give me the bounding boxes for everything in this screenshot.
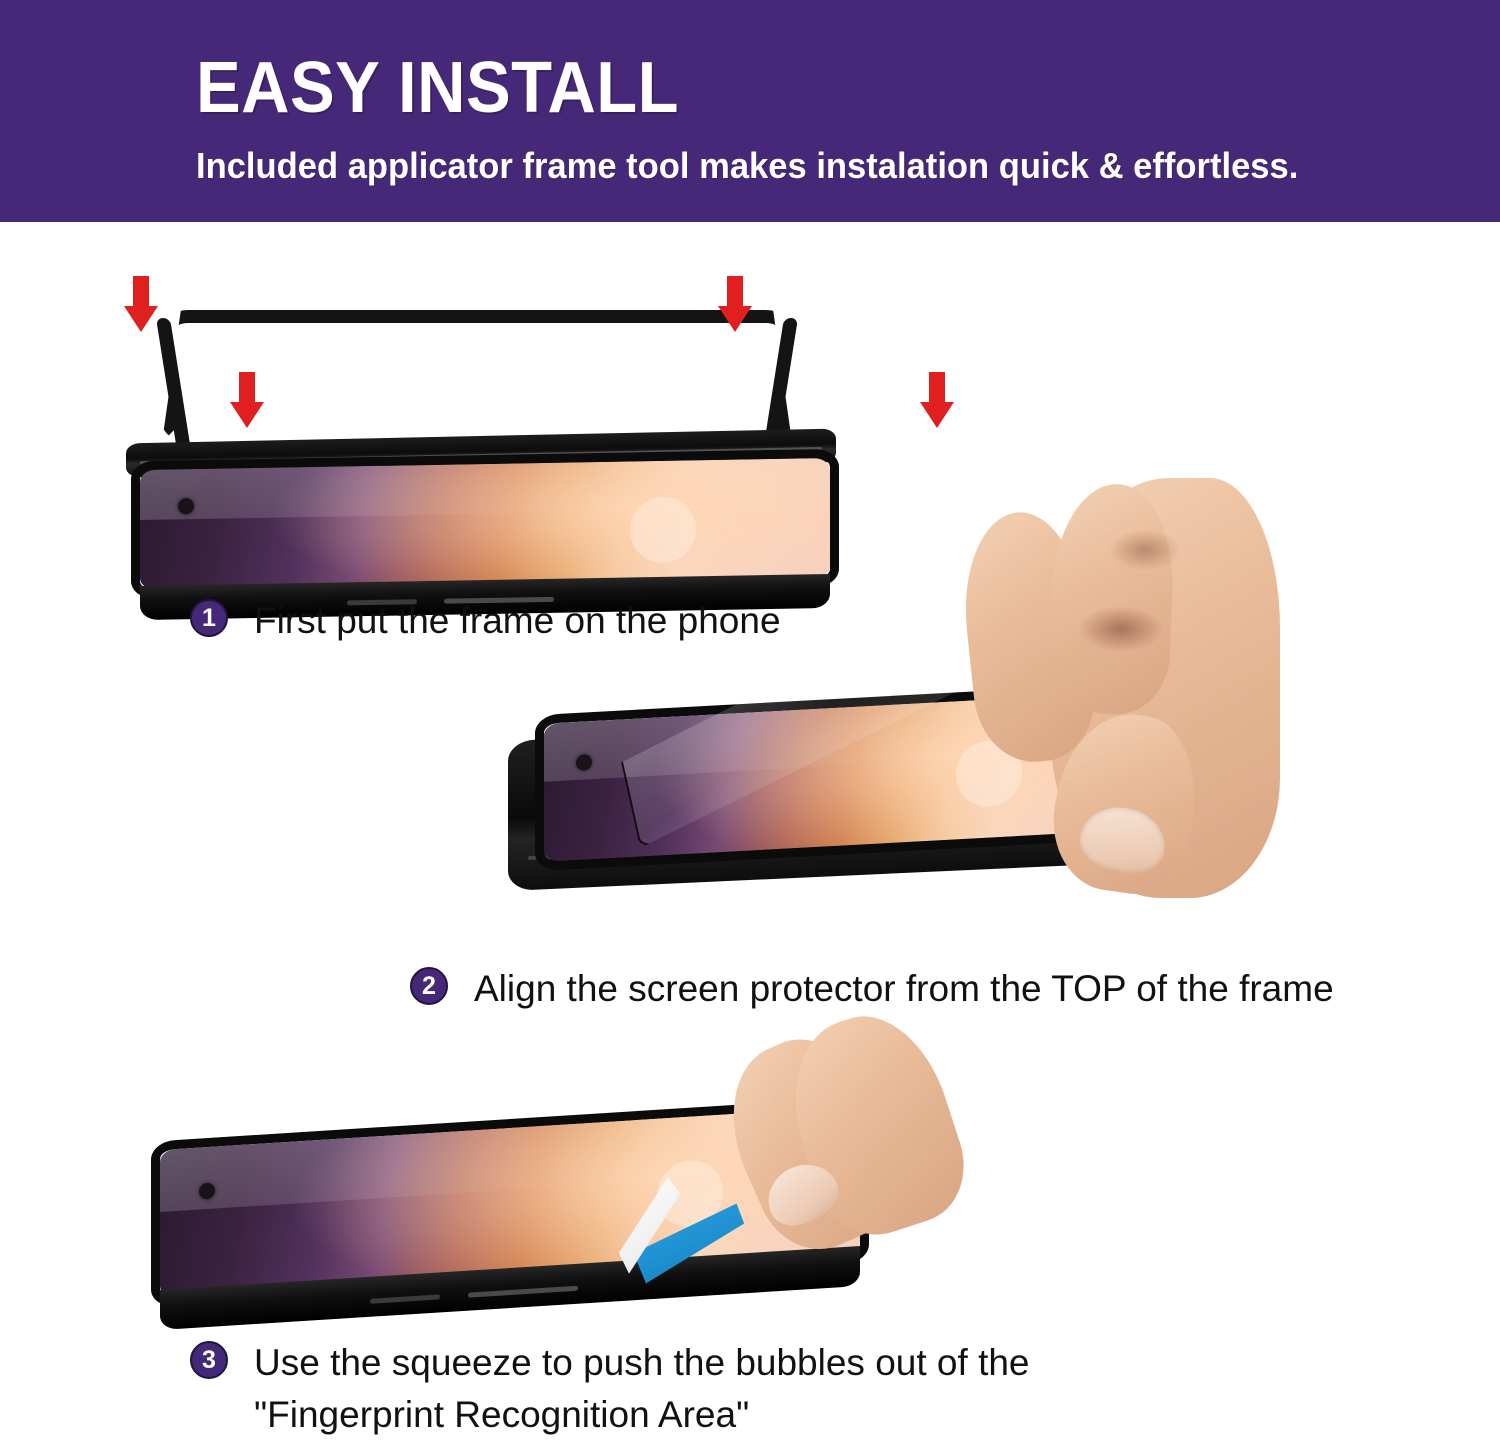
step-label: Align the screen protector from the TOP … bbox=[474, 963, 1334, 1015]
page-subtitle: Included applicator frame tool makes ins… bbox=[196, 144, 1298, 188]
step-number-badge: 1 bbox=[190, 599, 228, 637]
page-title: EASY INSTALL bbox=[196, 52, 679, 124]
header-banner: EASY INSTALL Included applicator frame t… bbox=[0, 0, 1500, 222]
finger-crease bbox=[1110, 530, 1180, 570]
front-camera-icon bbox=[178, 498, 194, 514]
step-label: Use the squeeze to push the bubbles out … bbox=[254, 1337, 1030, 1441]
hand-illustration bbox=[960, 478, 1270, 908]
front-camera-icon bbox=[576, 754, 592, 771]
step3-illustration bbox=[120, 1062, 910, 1324]
step-number-badge: 3 bbox=[190, 1341, 228, 1379]
step-number-badge: 2 bbox=[410, 967, 448, 1005]
step-2: 2 Align the screen protector from the TO… bbox=[410, 963, 1334, 1015]
hand-illustration bbox=[680, 1046, 910, 1276]
step2-illustration bbox=[490, 500, 1260, 950]
middle-finger bbox=[1048, 482, 1176, 716]
step-3: 3 Use the squeeze to push the bubbles ou… bbox=[190, 1337, 1030, 1441]
front-camera-icon bbox=[199, 1182, 215, 1199]
finger-crease bbox=[1078, 606, 1164, 652]
